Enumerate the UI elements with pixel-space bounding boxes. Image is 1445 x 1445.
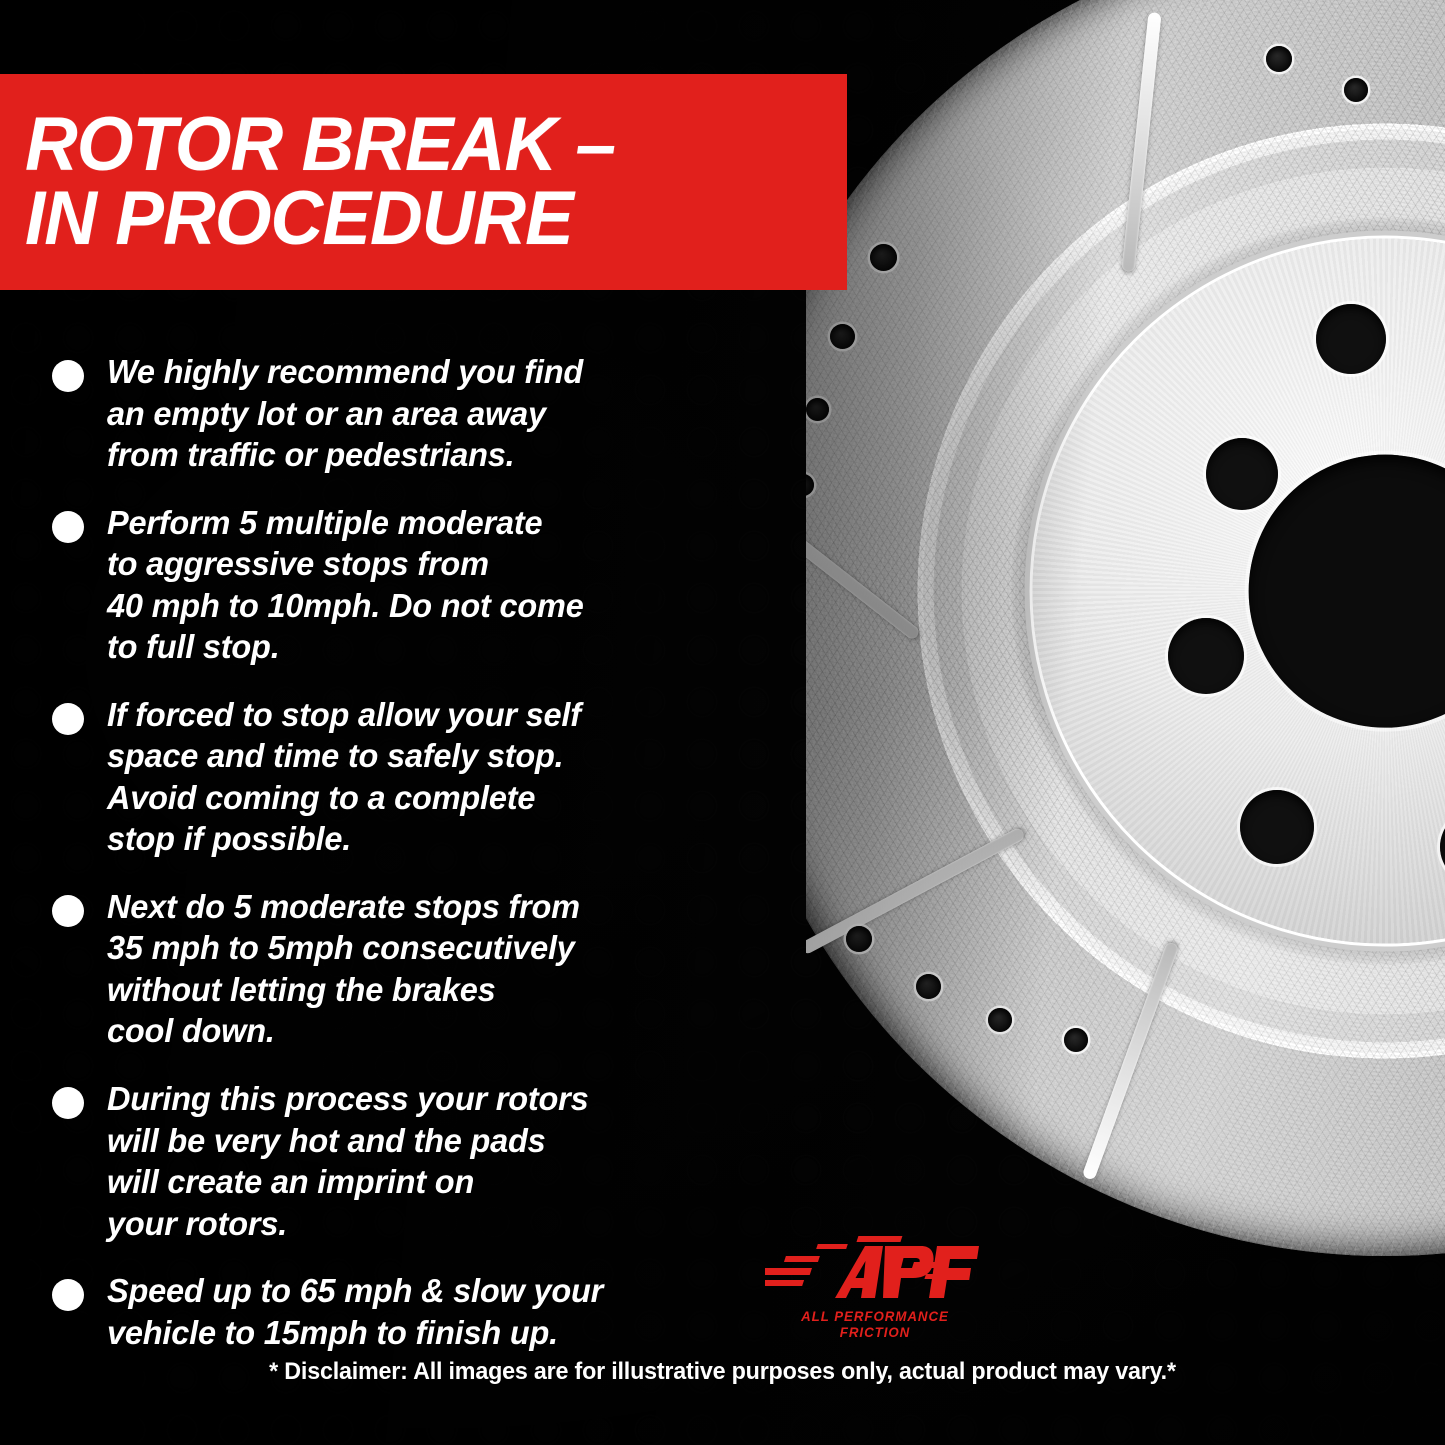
step-text: Speed up to 65 mph & slow your vehicle t… [107, 1271, 603, 1354]
list-item: If forced to stop allow your self space … [0, 695, 760, 861]
bullet-dot-icon [52, 511, 84, 543]
title-banner: ROTOR BREAK – IN PROCEDURE [0, 74, 847, 290]
disclaimer-text: * Disclaimer: All images are for illustr… [22, 1358, 1424, 1386]
list-item: During this process your rotors will be … [0, 1079, 760, 1245]
infographic-canvas: ROTOR BREAK – IN PROCEDURE We highly rec… [0, 0, 1445, 1445]
bullet-dot-icon [52, 703, 84, 735]
bullet-dot-icon [52, 360, 84, 392]
step-text: During this process your rotors will be … [107, 1079, 588, 1245]
procedure-step-list: We highly recommend you find an empty lo… [0, 352, 760, 1354]
list-item: Speed up to 65 mph & slow your vehicle t… [0, 1271, 760, 1354]
bullet-dot-icon [52, 895, 84, 927]
step-text: If forced to stop allow your self space … [107, 695, 581, 861]
list-item: Next do 5 moderate stops from 35 mph to … [0, 887, 760, 1053]
step-text: Perform 5 multiple moderate to aggressiv… [107, 503, 584, 669]
step-text: Next do 5 moderate stops from 35 mph to … [107, 887, 580, 1053]
bullet-dot-icon [52, 1087, 84, 1119]
step-text: We highly recommend you find an empty lo… [107, 352, 583, 477]
apf-logo-tagline: ALL PERFORMANCE FRICTION [771, 1308, 980, 1340]
apf-logo: ALL PERFORMANCE FRICTION [765, 1228, 985, 1336]
list-item: We highly recommend you find an empty lo… [0, 352, 760, 477]
page-title: ROTOR BREAK – IN PROCEDURE [0, 108, 615, 257]
bullet-dot-icon [52, 1279, 84, 1311]
list-item: Perform 5 multiple moderate to aggressiv… [0, 503, 760, 669]
apf-logo-mark-icon [765, 1228, 985, 1306]
